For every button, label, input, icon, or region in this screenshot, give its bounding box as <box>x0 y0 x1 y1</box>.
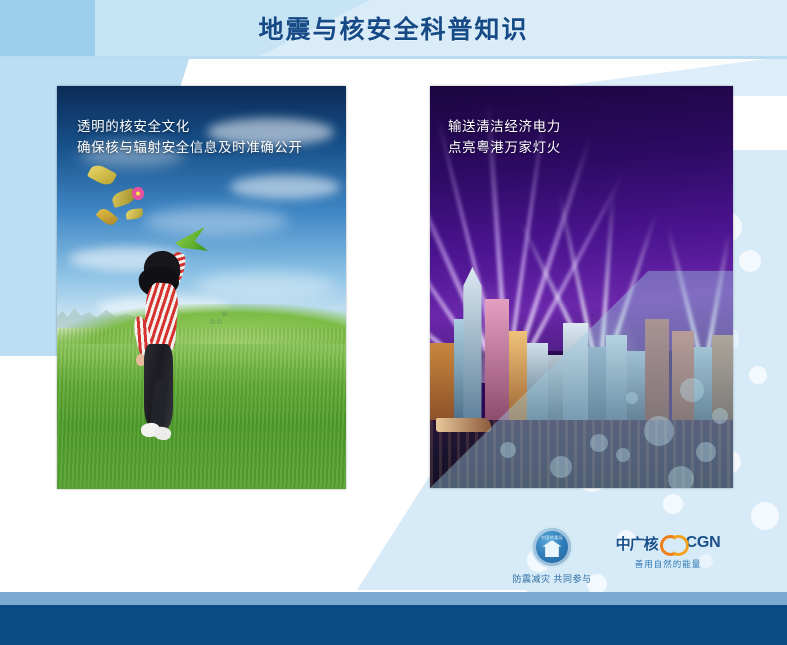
cgn-double-ring-icon <box>660 534 684 552</box>
cgn-chinese-name: 中广核 <box>616 533 658 554</box>
poster-clean-power[interactable]: 输送清洁经济电力 点亮粤港万家灯火 <box>430 86 733 488</box>
falling-flower <box>132 187 144 200</box>
footer-light-bar <box>0 592 787 605</box>
cgn-english-name: CGN <box>686 534 721 552</box>
grass-texture <box>57 328 346 489</box>
cgn-wordmark: 中广核 CGN <box>609 532 727 554</box>
poster-caption-right: 输送清洁经济电力 点亮粤港万家灯火 <box>448 116 561 158</box>
cloud <box>230 175 340 199</box>
bank-of-china-tower <box>463 267 481 424</box>
seal-house-shape <box>543 540 562 557</box>
poster-left-line1: 透明的核安全文化 <box>77 116 303 137</box>
poster-right-line2: 点亮粤港万家灯火 <box>448 137 561 158</box>
building <box>430 343 457 423</box>
poster-left-line2: 确保核与辐射安全信息及时准确公开 <box>77 137 303 158</box>
seismic-seal-icon: 中国地震局 <box>533 528 571 566</box>
poster-right-line1: 输送清洁经济电力 <box>448 116 561 137</box>
cloud <box>196 271 335 299</box>
cgn-logo[interactable]: 中广核 CGN 善用自然的能量 <box>609 532 727 570</box>
bird-icon: ᘏ <box>222 312 227 319</box>
bird-icon: ᘏ ᘏ <box>210 320 222 327</box>
building <box>485 299 509 424</box>
cgn-logo-caption: 善用自然的能量 <box>609 558 727 570</box>
footer-logos: 中国地震局 防震减灾 共同参与 中广核 CGN 善用自然的能量 <box>497 528 727 584</box>
header-underline <box>0 56 787 59</box>
page-title: 地震与核安全科普知识 <box>0 0 787 56</box>
seismic-logo-caption: 防震减灾 共同参与 <box>497 572 607 585</box>
poster-page: 地震与核安全科普知识 ᘏ ᘏ ᘏ 透明的核安全文化 <box>0 0 787 645</box>
poster-nuclear-safety-culture[interactable]: ᘏ ᘏ ᘏ 透明的核安全文化 确保核与辐射安全信息及时准确公开 <box>57 86 346 489</box>
poster-caption-left: 透明的核安全文化 确保核与辐射安全信息及时准确公开 <box>77 116 303 158</box>
cloud <box>144 207 289 235</box>
footer-dark-bar <box>0 605 787 645</box>
boat <box>436 418 491 432</box>
seismic-prevention-logo[interactable]: 中国地震局 防震减灾 共同参与 <box>497 528 607 585</box>
